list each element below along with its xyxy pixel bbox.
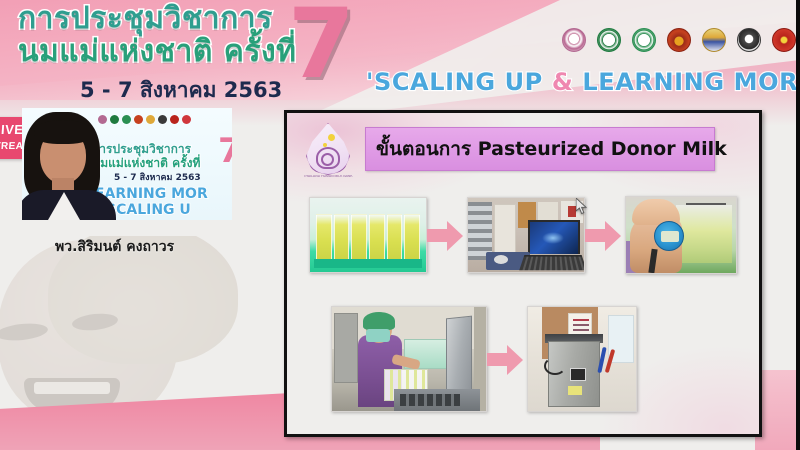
photo-laptop-record-station xyxy=(467,197,585,273)
photo1-bottle-rack xyxy=(316,214,420,260)
mother-and-baby-icon xyxy=(316,147,340,169)
watermark-teeth xyxy=(34,382,110,394)
inset-date: 5 - 7 สิงหาคม 2563 xyxy=(114,170,201,184)
royal-college-icon xyxy=(667,28,691,52)
logo-royal-college xyxy=(665,28,693,62)
inset-logo-7 xyxy=(170,115,179,124)
logo-royal-patronage-emblem xyxy=(560,28,588,62)
logo-medical-council xyxy=(770,28,798,62)
photo4-nurse-mask xyxy=(366,329,390,342)
photo5-control-panel xyxy=(570,368,586,381)
inset-logo-8 xyxy=(182,115,191,124)
speaker-silhouette xyxy=(22,108,114,220)
logo-thai-breastfeeding-centre xyxy=(595,28,623,62)
photo5-label xyxy=(568,386,582,395)
inset-tagline-line2: SCALING U xyxy=(106,202,191,218)
event-title-block: การประชุมวิชาการ นมแม่แห่งชาติ ครั้งที่ … xyxy=(18,4,298,107)
inset-logo-5 xyxy=(146,115,155,124)
slide-header-title: ขั้นตอนการ Pasteurized Donor Milk xyxy=(366,134,727,164)
tagline-part-2: LEARNING MORE' xyxy=(573,68,800,96)
photo4-pasteurizer-tank xyxy=(394,389,480,411)
arrow-right-icon xyxy=(585,220,625,250)
photo2-laptop-keyboard xyxy=(519,255,585,270)
photo1-bottle-column xyxy=(404,214,420,260)
speaker-fringe xyxy=(34,120,92,144)
photo3-wire xyxy=(686,203,726,205)
photo1-bottle-column xyxy=(387,214,403,260)
photo-pasteurizer-machine xyxy=(527,306,637,412)
photo4-cabinet xyxy=(334,313,358,383)
presentation-slide-panel: THAILAND HUMAN MILK BANK ขั้นตอนการ Past… xyxy=(284,110,762,437)
event-title-line2: นมแม่แห่งชาติ ครั้งที่ xyxy=(18,37,298,68)
slide-stage: การประชุมวิชาการ นมแม่แห่งชาติ ครั้งที่ … xyxy=(0,0,800,450)
inset-edition-number: 7 xyxy=(218,134,232,168)
event-tagline: 'SCALING UP & LEARNING MORE' xyxy=(366,68,800,96)
slide-header-banner: ขั้นตอนการ Pasteurized Donor Milk xyxy=(365,127,715,171)
photo3-digital-timer xyxy=(654,221,684,251)
logo-ministry-of-public-health xyxy=(630,28,658,62)
inset-logo-3 xyxy=(122,115,131,124)
photo-temperature-timer-check xyxy=(625,196,737,274)
photo1-bottle-column xyxy=(351,214,367,260)
ministry-of-public-health-icon xyxy=(632,28,656,52)
photo1-bottle-column xyxy=(334,214,350,260)
edition-number: 7 xyxy=(288,0,355,92)
photo5-power-cable xyxy=(544,357,566,375)
arrow-right-icon xyxy=(487,344,527,374)
event-date: 5 - 7 สิงหาคม 2563 xyxy=(80,74,298,107)
thai-breastfeeding-centre-icon xyxy=(597,28,621,52)
live-label: LIVE xyxy=(0,122,24,137)
milk-drop-dot-large xyxy=(328,134,335,141)
medical-council-icon xyxy=(772,28,796,52)
inset-logo-6 xyxy=(158,115,167,124)
human-milk-bank-drop-logo: THAILAND HUMAN MILK BANK xyxy=(300,121,356,187)
photo-nurse-loading-pasteurizer xyxy=(331,306,487,412)
photo2-laptop-screen xyxy=(528,220,580,254)
tagline-ampersand: & xyxy=(552,68,574,96)
photo1-bottle-column xyxy=(369,214,385,260)
nursing-council-icon xyxy=(737,28,761,52)
photo2-mouse xyxy=(494,255,508,264)
tagline-part-1: 'SCALING UP xyxy=(366,68,552,96)
right-edge-border xyxy=(796,0,800,450)
photo2-paper-stack xyxy=(494,204,516,256)
milk-bank-logo-caption: THAILAND HUMAN MILK BANK xyxy=(298,175,358,179)
speaker-name-label: พว.สิริมนต์ คงถาวร xyxy=(55,236,174,258)
arrow-right-icon xyxy=(427,220,467,250)
photo1-pallet xyxy=(314,259,422,268)
process-step-row-top xyxy=(295,191,757,279)
logo-royal-crest xyxy=(700,28,728,62)
sponsor-logo-strip: สสส xyxy=(560,28,800,62)
inset-logo-4 xyxy=(134,115,143,124)
speaker-video-inset[interactable]: การประชุมวิชาการ นมแม่แห่งชาติ ครั้งที่ … xyxy=(22,108,232,220)
photo3-milk-bottles xyxy=(676,205,732,263)
photo1-bottle-column xyxy=(316,214,332,260)
event-title-line1: การประชุมวิชาการ xyxy=(18,4,298,35)
royal-patronage-emblem-icon xyxy=(562,28,586,52)
photo4-nurse-cap xyxy=(363,312,395,330)
process-step-row-bottom xyxy=(331,295,751,423)
photo-milk-bottle-racks xyxy=(309,197,427,273)
royal-crest-icon xyxy=(702,28,726,52)
logo-nursing-council xyxy=(735,28,763,62)
